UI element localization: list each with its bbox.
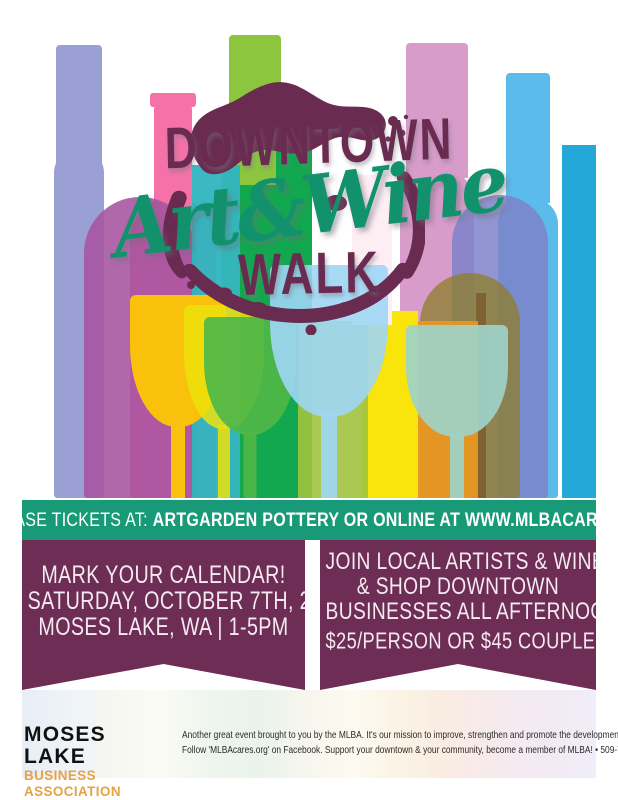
logo-moses-lake: MOSES LAKE bbox=[24, 724, 174, 768]
bottle-neck bbox=[506, 73, 550, 203]
event-details-panel: MARK YOUR CALENDAR! SATURDAY, OCTOBER 7T… bbox=[22, 540, 305, 690]
fineprint-line-2: Follow 'MLBAcares.org' on Facebook. Supp… bbox=[182, 742, 618, 757]
event-pricing: $25/PERSON OR $45 COUPLE bbox=[326, 622, 591, 657]
event-description-panel: JOIN LOCAL ARTISTS & WINERIES & SHOP DOW… bbox=[320, 540, 596, 690]
bottle-neck bbox=[229, 35, 281, 165]
event-description-lines: JOIN LOCAL ARTISTS & WINERIES & SHOP DOW… bbox=[320, 540, 596, 654]
wineglass-lightblue bbox=[270, 265, 388, 498]
glass-stem bbox=[450, 433, 464, 498]
glass-stem bbox=[321, 413, 337, 498]
bottle-neck bbox=[56, 45, 102, 165]
band-cyan-edge bbox=[562, 145, 596, 498]
ticket-purchase-banner: PURCHASE TICKETS AT: ARTGARDEN POTTERY O… bbox=[22, 500, 596, 540]
footer-fineprint: Another great event brought to you by th… bbox=[174, 724, 618, 757]
bottle-neck bbox=[406, 43, 468, 178]
fineprint-line-1: Another great event brought to you by th… bbox=[182, 727, 618, 742]
event-details-line-3: MOSES LAKE, WA | 1-5PM bbox=[28, 612, 300, 643]
artwork-collage: DOWNTOWN Art&Wine WALK bbox=[22, 25, 596, 498]
ticket-banner-emphasis: ARTGARDEN POTTERY OR ONLINE AT WWW.MLBAC… bbox=[153, 509, 618, 530]
logo-business-association: BUSINESS ASSOCIATION bbox=[24, 768, 174, 800]
panel-chevron-notch bbox=[22, 664, 305, 690]
wineglass-teal bbox=[406, 325, 508, 498]
poster-footer: MOSES LAKE BUSINESS ASSOCIATION Another … bbox=[22, 724, 596, 778]
ticket-banner-prefix: PURCHASE TICKETS AT: bbox=[0, 509, 153, 530]
glass-stem bbox=[171, 423, 185, 498]
poster-canvas: DOWNTOWN Art&Wine WALK PURCHASE TICKETS … bbox=[0, 0, 618, 800]
glass-bowl bbox=[270, 265, 388, 417]
glass-stem bbox=[244, 431, 257, 498]
panel-chevron-notch bbox=[320, 664, 596, 690]
mlba-logo: MOSES LAKE BUSINESS ASSOCIATION bbox=[22, 724, 174, 800]
ticket-banner-text: PURCHASE TICKETS AT: ARTGARDEN POTTERY O… bbox=[0, 509, 618, 531]
glass-bowl bbox=[406, 325, 508, 437]
event-details-lines: MARK YOUR CALENDAR! SATURDAY, OCTOBER 7T… bbox=[22, 540, 305, 641]
